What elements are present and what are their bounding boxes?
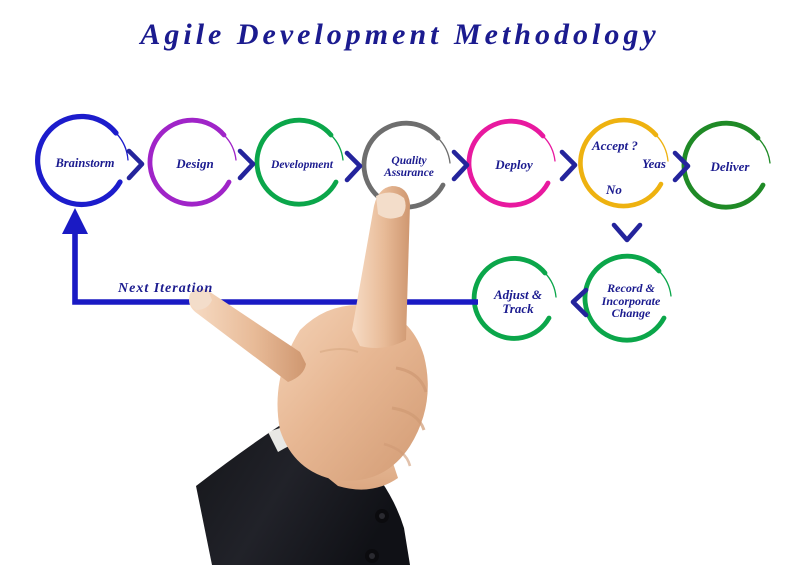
- node-ring-deliver[interactable]: [684, 123, 770, 207]
- node-ring-design[interactable]: [150, 120, 236, 204]
- pointing-hand-photo: [189, 186, 428, 565]
- node-ring-record-change[interactable]: [585, 256, 671, 340]
- node-ring-brainstorm[interactable]: [38, 116, 128, 204]
- chevron-right-icon: [129, 151, 142, 178]
- chevron-down-icon: [614, 225, 640, 240]
- chevron-right-icon: [347, 153, 360, 180]
- node-ring-adjust-track[interactable]: [474, 258, 556, 338]
- node-ring-accept[interactable]: [580, 120, 668, 206]
- chevron-right-icon: [454, 152, 467, 179]
- diagram-canvas: Agile Development Methodology: [0, 0, 800, 565]
- chevron-right-icon: [240, 151, 253, 178]
- node-ring-deploy[interactable]: [469, 121, 555, 205]
- next-iteration-label: Next Iteration: [118, 281, 213, 297]
- chevron-right-icon: [562, 152, 575, 179]
- node-ring-development[interactable]: [257, 120, 343, 204]
